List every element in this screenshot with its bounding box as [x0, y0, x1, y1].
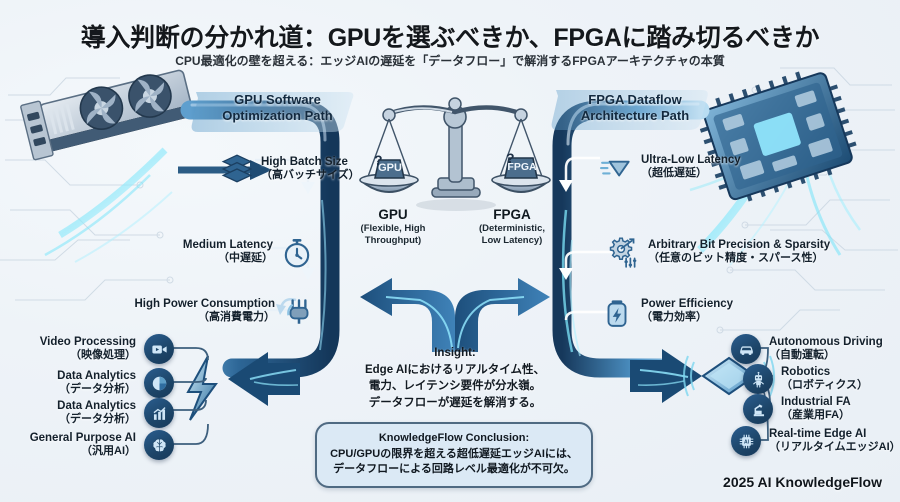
fpga-application-realtime-edge-ai: AI Real-time Edge AI （リアルタイムエッジAI） — [731, 426, 900, 456]
robot-icon — [743, 364, 773, 394]
gpu-feature-1-jp: （中遅延） — [175, 252, 273, 266]
scale-fpga-name: FPGA — [462, 207, 562, 223]
fpga-path-banner-line2: Architecture Path — [581, 108, 689, 123]
pie-chart-icon — [144, 368, 174, 398]
gpu-application-video-processing: Video Processing （映像処理） — [38, 334, 174, 364]
fpga-app-0-jp: （自動運転） — [769, 349, 900, 362]
svg-text:AI: AI — [743, 439, 749, 445]
conclusion-box: KnowledgeFlow Conclusion: CPU/GPUの限界を超える… — [315, 422, 593, 488]
fpga-app-2-en: Industrial FA — [781, 396, 851, 408]
gpu-path-banner: GPU Software Optimization Path — [205, 92, 350, 125]
gpu-application-general-purpose-ai: General Purpose AI （汎用AI） — [26, 430, 174, 460]
fpga-app-3-en: Real-time Edge AI — [769, 428, 866, 440]
scale-left-pan-chip-label: GPU — [372, 162, 408, 174]
scale-right-pan-chip-label: FPGA — [503, 161, 541, 173]
scale-gpu-name: GPU — [345, 207, 441, 223]
scale-gpu-desc-line1: (Flexible, High — [345, 223, 441, 235]
scale-gpu-label: GPU (Flexible, High Throughput) — [345, 207, 441, 247]
scale-gpu-desc-line2: Throughput) — [345, 235, 441, 247]
speed-arrow-icon — [600, 150, 634, 184]
fpga-feature-2-en: Power Efficiency — [641, 298, 733, 310]
scale-fpga-desc-line1: (Deterministic, — [462, 223, 562, 235]
footer-brand: 2025 AI KnowledgeFlow — [723, 474, 882, 490]
fpga-application-autonomous-driving: Autonomous Driving （自動運転） — [731, 334, 900, 364]
fpga-feature-ultra-low-latency: Ultra-Low Latency （超低遅延） — [600, 150, 761, 184]
page-subtitle: CPU最適化の壁を超える：エッジAIの遅延を「データフロー」で解消するFPGAア… — [0, 52, 900, 69]
gpu-app-2-jp: （データ分析） — [38, 413, 136, 426]
insight-line2: 電力、レイテンシ要件が分水嶺。 — [369, 380, 541, 392]
scale-fpga-label: FPGA (Deterministic, Low Latency) — [462, 207, 562, 247]
fpga-feature-1-jp: （任意のビット精度・スパース性） — [648, 252, 853, 266]
video-camera-icon — [144, 334, 174, 364]
fpga-feature-2-jp: （電力効率） — [641, 311, 751, 325]
infographic-canvas: 導入判断の分かれ道：GPUを選ぶべきか、FPGAに踏み切るべきか CPU最適化の… — [0, 0, 900, 502]
fpga-feature-power-efficiency: Power Efficiency （電力効率） — [600, 294, 751, 328]
power-plug-icon — [282, 294, 316, 328]
fpga-app-1-en: Robotics — [781, 366, 830, 378]
fpga-app-3-jp: （リアルタイムエッジAI） — [769, 441, 900, 454]
page-title: 導入判断の分かれ道：GPUを選ぶべきか、FPGAに踏み切るべきか — [0, 18, 900, 54]
factory-arm-icon — [743, 394, 773, 424]
gpu-application-data-analytics-bar: Data Analytics （データ分析） — [38, 398, 174, 428]
gpu-feature-2-en: High Power Consumption — [134, 298, 275, 310]
decision-fork-arrow — [360, 278, 550, 352]
gpu-feature-high-batch-size: High Batch Size （高バッチサイズ） — [220, 152, 361, 186]
ai-chip-icon: AI — [731, 426, 761, 456]
scale-fpga-desc-line2: Low Latency) — [462, 235, 562, 247]
fpga-feature-0-en: Ultra-Low Latency — [641, 154, 741, 166]
bar-chart-icon — [144, 398, 174, 428]
insight-block: Insight: Edge AIにおけるリアルタイム性、 電力、レイテンシ要件が… — [330, 345, 580, 412]
fpga-path-banner-line1: FPGA Dataflow — [588, 92, 681, 107]
gpu-application-data-analytics-pie: Data Analytics （データ分析） — [38, 368, 174, 398]
gpu-feature-0-jp: （高バッチサイズ） — [261, 169, 361, 183]
balance-scale-illustration — [360, 98, 550, 211]
fpga-feature-arbitrary-bit-precision: Arbitrary Bit Precision & Sparsity （任意のビ… — [607, 235, 853, 269]
gpu-app-3-en: General Purpose AI — [30, 432, 136, 444]
gpu-feature-1-en: Medium Latency — [183, 239, 273, 251]
gpu-feature-0-en: High Batch Size — [261, 156, 348, 168]
gpu-path-banner-line2: Optimization Path — [222, 108, 333, 123]
gear-sliders-icon — [607, 235, 641, 269]
gpu-feature-medium-latency: Medium Latency （中遅延） — [175, 235, 314, 269]
fpga-app-2-jp: （産業用FA） — [781, 409, 900, 422]
gpu-app-3-jp: （汎用AI） — [26, 445, 136, 458]
car-icon — [731, 334, 761, 364]
gpu-card-illustration — [20, 66, 195, 160]
fpga-app-0-en: Autonomous Driving — [769, 336, 883, 348]
fpga-app-1-jp: （ロボティクス） — [781, 379, 900, 392]
conclusion-line1: CPU/GPUの限界を超える超低遅延エッジAIには、 — [330, 448, 578, 460]
gpu-feature-2-jp: （高消費電力） — [133, 311, 275, 325]
fpga-application-industrial-fa: Industrial FA （産業用FA） — [743, 394, 900, 424]
stacked-layers-icon — [220, 152, 254, 186]
conclusion-heading: KnowledgeFlow Conclusion: — [325, 431, 583, 447]
fpga-path-banner: FPGA Dataflow Architecture Path — [560, 92, 710, 125]
cyan-glow-left — [45, 150, 172, 262]
gpu-path-banner-line1: GPU Software — [234, 92, 321, 107]
gpu-feature-high-power-consumption: High Power Consumption （高消費電力） — [133, 294, 316, 328]
gpu-app-1-jp: （データ分析） — [38, 383, 136, 396]
gpu-app-0-jp: （映像処理） — [38, 349, 136, 362]
fpga-chip-illustration — [692, 62, 862, 209]
conclusion-line2: データフローによる回路レベル最適化が不可欠。 — [333, 463, 575, 475]
insight-line1: Edge AIにおけるリアルタイム性、 — [365, 364, 545, 376]
insight-line3: データフローが遅延を解消する。 — [369, 397, 542, 409]
brain-icon — [144, 430, 174, 460]
fpga-feature-0-jp: （超低遅延） — [641, 167, 761, 181]
fpga-feature-1-en: Arbitrary Bit Precision & Sparsity — [648, 239, 830, 251]
gpu-app-0-en: Video Processing — [40, 336, 136, 348]
stopwatch-icon — [280, 235, 314, 269]
gpu-app-2-en: Data Analytics — [57, 400, 136, 412]
gpu-app-1-en: Data Analytics — [57, 370, 136, 382]
battery-bolt-icon — [600, 294, 634, 328]
fpga-application-robotics: Robotics （ロボティクス） — [743, 364, 900, 394]
insight-heading: Insight: — [330, 345, 580, 362]
